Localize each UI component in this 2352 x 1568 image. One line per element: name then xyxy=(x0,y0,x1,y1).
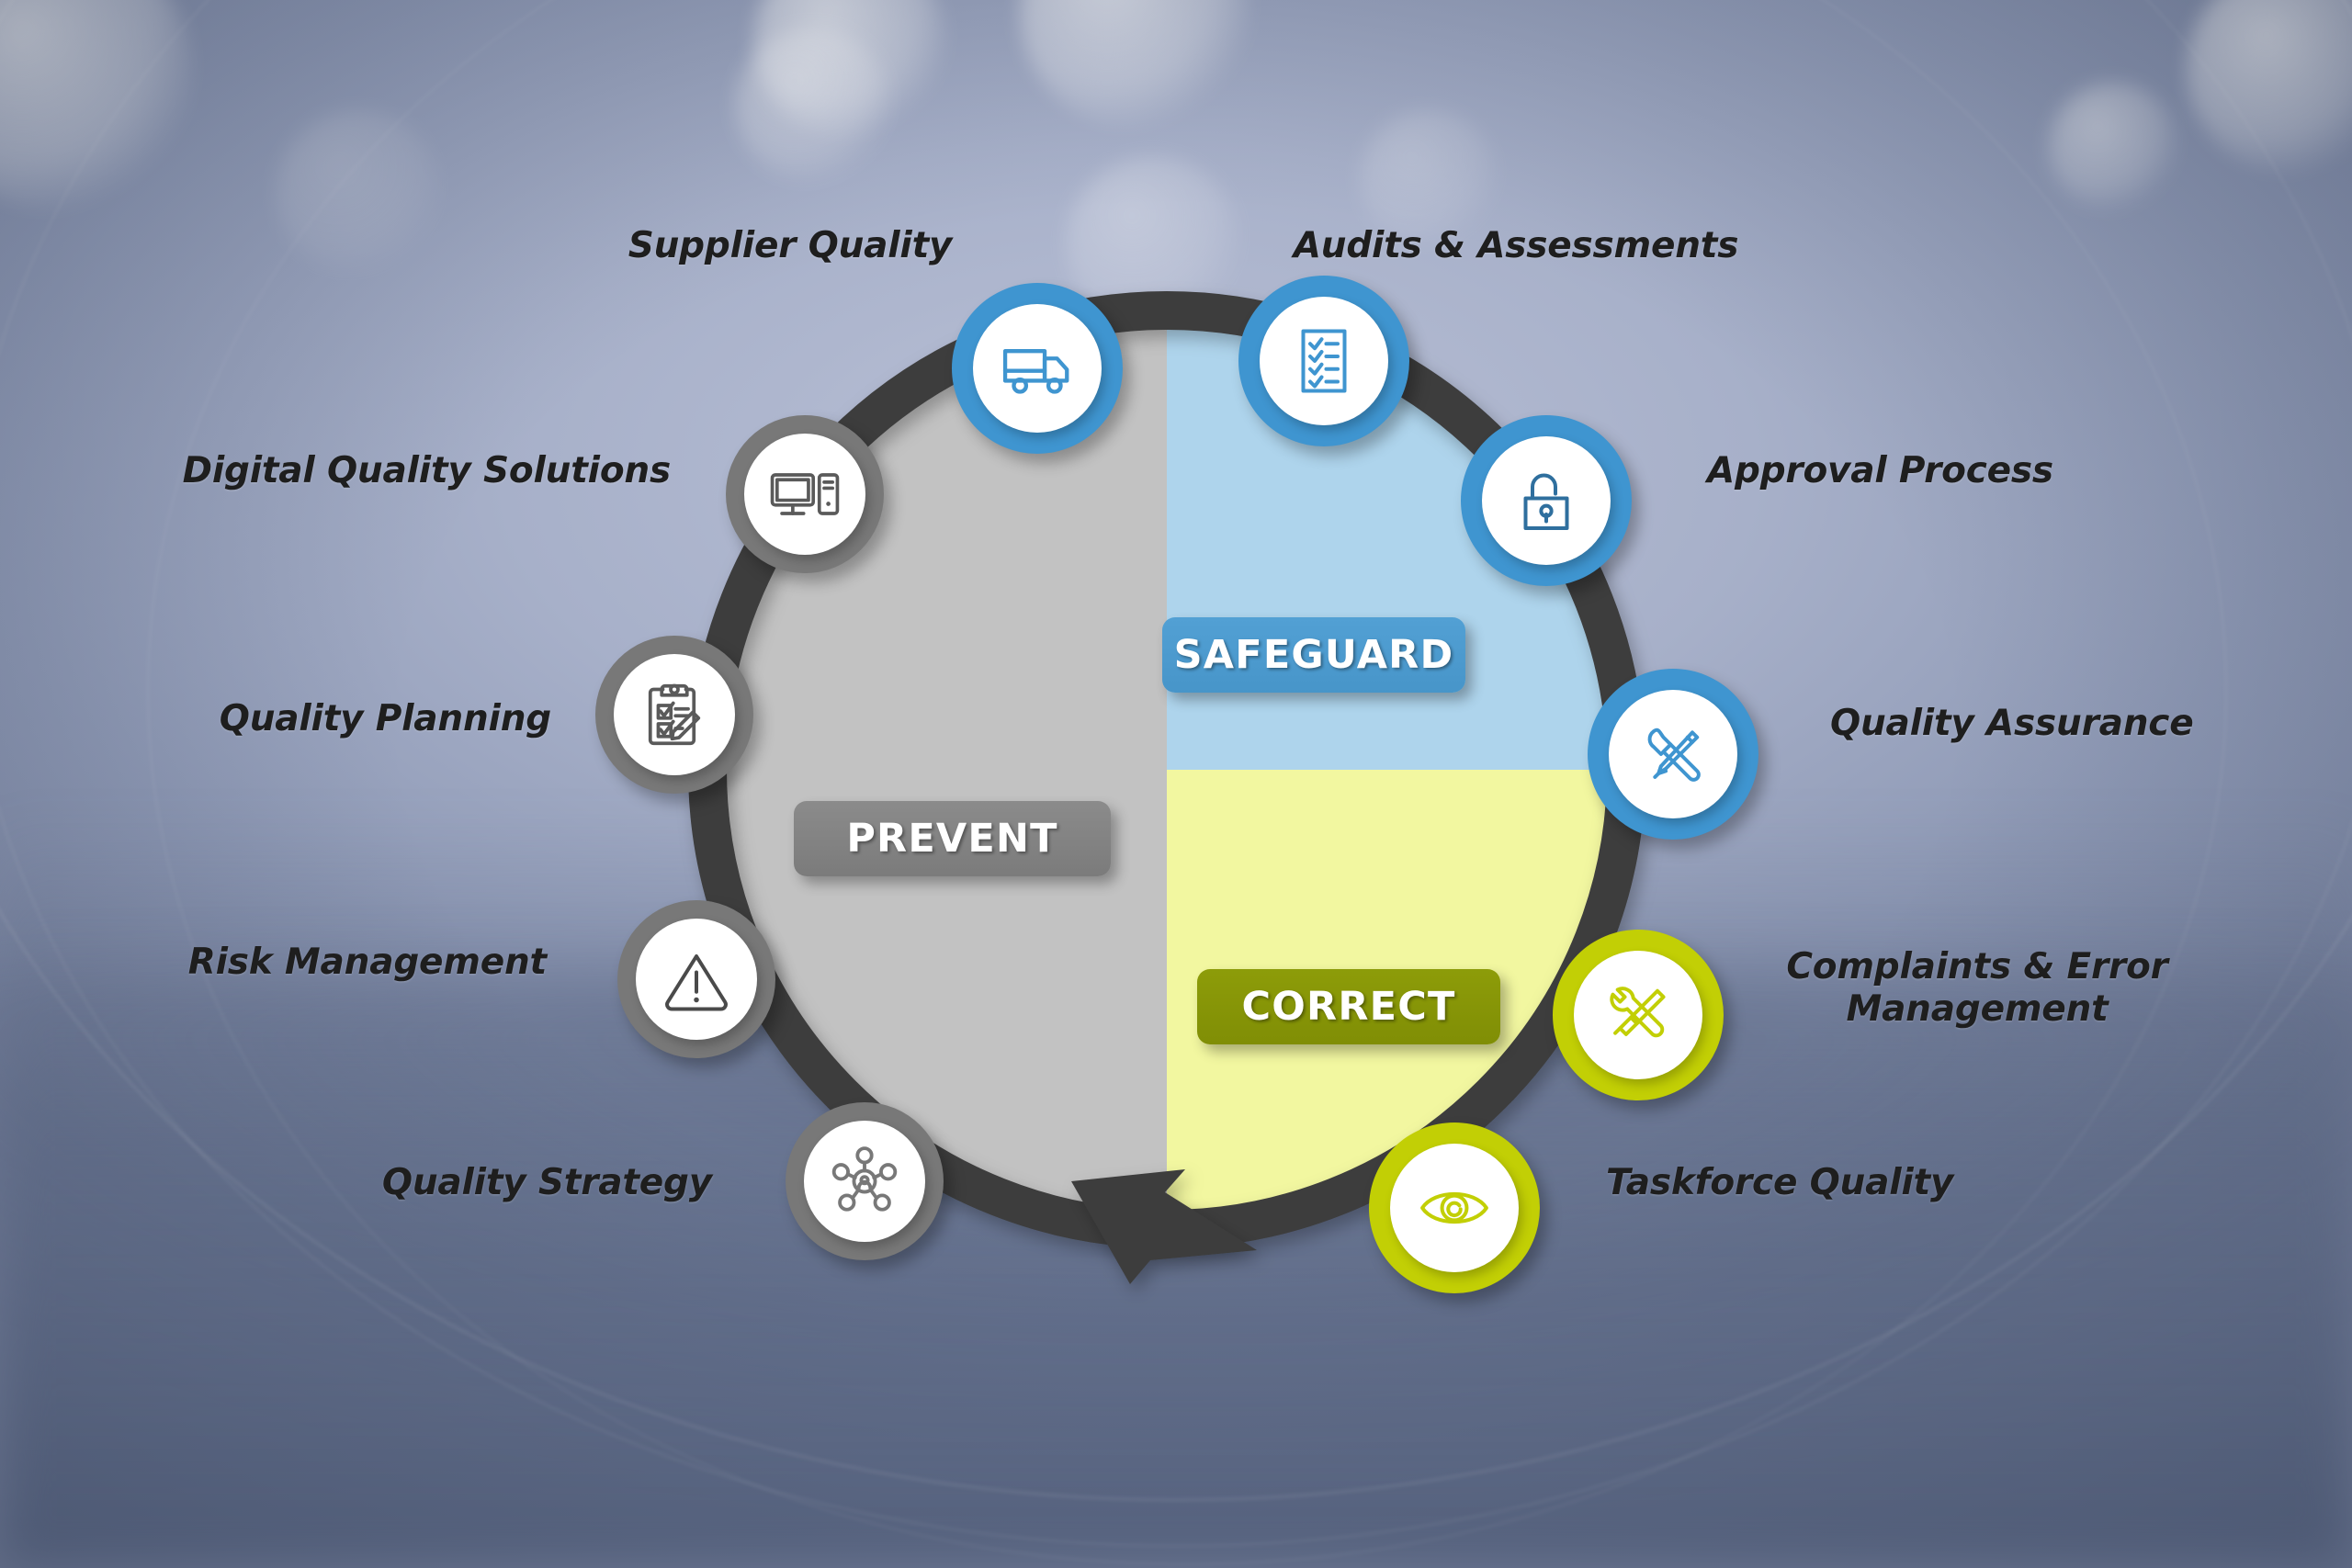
label-digital-quality-solutions: Digital Quality Solutions xyxy=(165,450,671,492)
eye-icon xyxy=(1415,1168,1494,1247)
checklist-icon xyxy=(1287,324,1361,398)
network-hub-icon xyxy=(827,1144,902,1219)
node-disc xyxy=(1482,436,1611,565)
open-padlock-icon xyxy=(1510,464,1583,537)
node-complaints-error-management[interactable] xyxy=(1553,930,1724,1100)
label-complaints-error-management: Complaints & Error Management xyxy=(1757,946,2198,1030)
label-approval-process: Approval Process xyxy=(1707,450,2130,492)
wrench-screwdriver-icon xyxy=(1600,976,1677,1054)
node-approval-process[interactable] xyxy=(1461,415,1632,586)
label-quality-planning: Quality Planning xyxy=(165,698,551,740)
node-disc xyxy=(1260,297,1388,425)
node-risk-management[interactable] xyxy=(617,900,775,1058)
node-quality-strategy[interactable] xyxy=(786,1102,944,1260)
node-digital-quality-solutions[interactable] xyxy=(726,415,884,573)
phase-badge-prevent[interactable]: PREVENT xyxy=(794,801,1111,876)
quality-cycle-diagram: PREVENT SAFEGUARD CORRECT xyxy=(0,0,2352,1568)
phase-badge-safeguard[interactable]: SAFEGUARD xyxy=(1162,617,1465,693)
label-quality-assurance: Quality Assurance xyxy=(1830,703,2271,745)
node-disc xyxy=(636,919,757,1040)
node-taskforce-quality[interactable] xyxy=(1369,1122,1540,1293)
node-disc xyxy=(614,654,735,775)
node-quality-assurance[interactable] xyxy=(1588,669,1758,840)
clipboard-pencil-icon xyxy=(638,678,711,751)
desktop-computer-icon xyxy=(766,456,843,533)
node-disc xyxy=(973,304,1102,433)
label-quality-strategy: Quality Strategy xyxy=(276,1162,712,1204)
label-taskforce-quality: Taskforce Quality xyxy=(1606,1162,2084,1204)
label-risk-management: Risk Management xyxy=(184,942,547,984)
label-supplier-quality: Supplier Quality xyxy=(588,225,992,267)
pen-paintbrush-icon xyxy=(1634,716,1712,793)
node-disc xyxy=(1574,951,1702,1079)
warning-triangle-icon xyxy=(660,942,733,1016)
delivery-truck-icon xyxy=(998,329,1077,408)
node-disc xyxy=(744,434,865,555)
phase-badge-correct[interactable]: CORRECT xyxy=(1197,969,1500,1044)
node-disc xyxy=(1609,690,1737,818)
node-audits-assessments[interactable] xyxy=(1238,276,1409,446)
node-disc xyxy=(1390,1144,1519,1272)
node-supplier-quality[interactable] xyxy=(952,283,1123,454)
node-disc xyxy=(804,1121,925,1242)
node-quality-planning[interactable] xyxy=(595,636,753,794)
label-audits-assessments: Audits & Assessments xyxy=(1259,225,1773,267)
